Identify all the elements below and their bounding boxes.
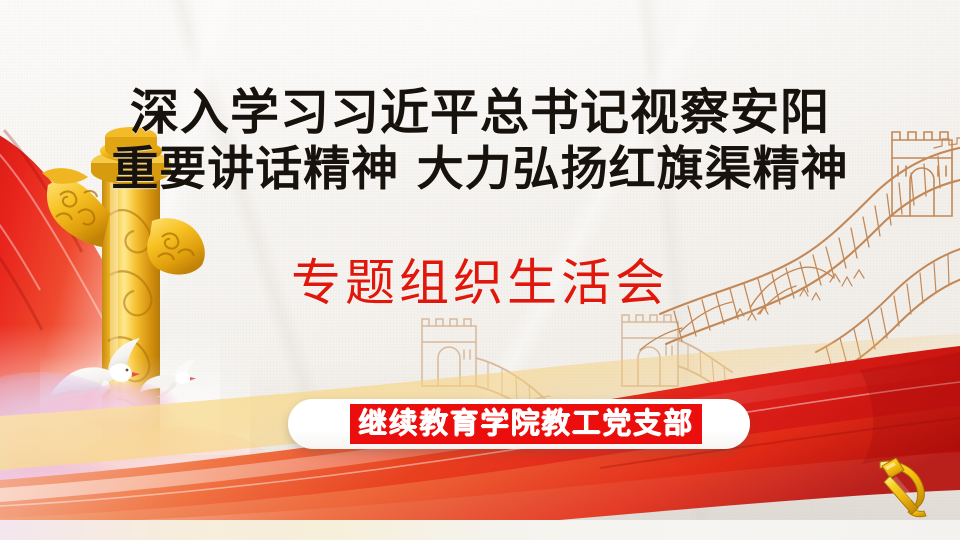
hammer-and-sickle-icon — [866, 452, 938, 518]
organization-name: 继续教育学院教工党支部 — [358, 406, 694, 440]
title-line-2: 重要讲话精神 大力弘扬红旗渠精神 — [0, 141, 960, 198]
organization-badge: 继续教育学院教工党支部 — [350, 404, 702, 444]
page-title: 深入学习习近平总书记视察安阳 重要讲话精神 大力弘扬红旗渠精神 — [0, 84, 960, 198]
subtitle: 专题组织生活会 — [0, 252, 960, 314]
bottom-strip — [0, 520, 960, 540]
title-line-1: 深入学习习近平总书记视察安阳 — [0, 84, 960, 141]
organization-banner: 继续教育学院教工党支部 — [288, 399, 750, 449]
presentation-slide: 深入学习习近平总书记视察安阳 重要讲话精神 大力弘扬红旗渠精神 专题组织生活会 … — [0, 0, 960, 540]
